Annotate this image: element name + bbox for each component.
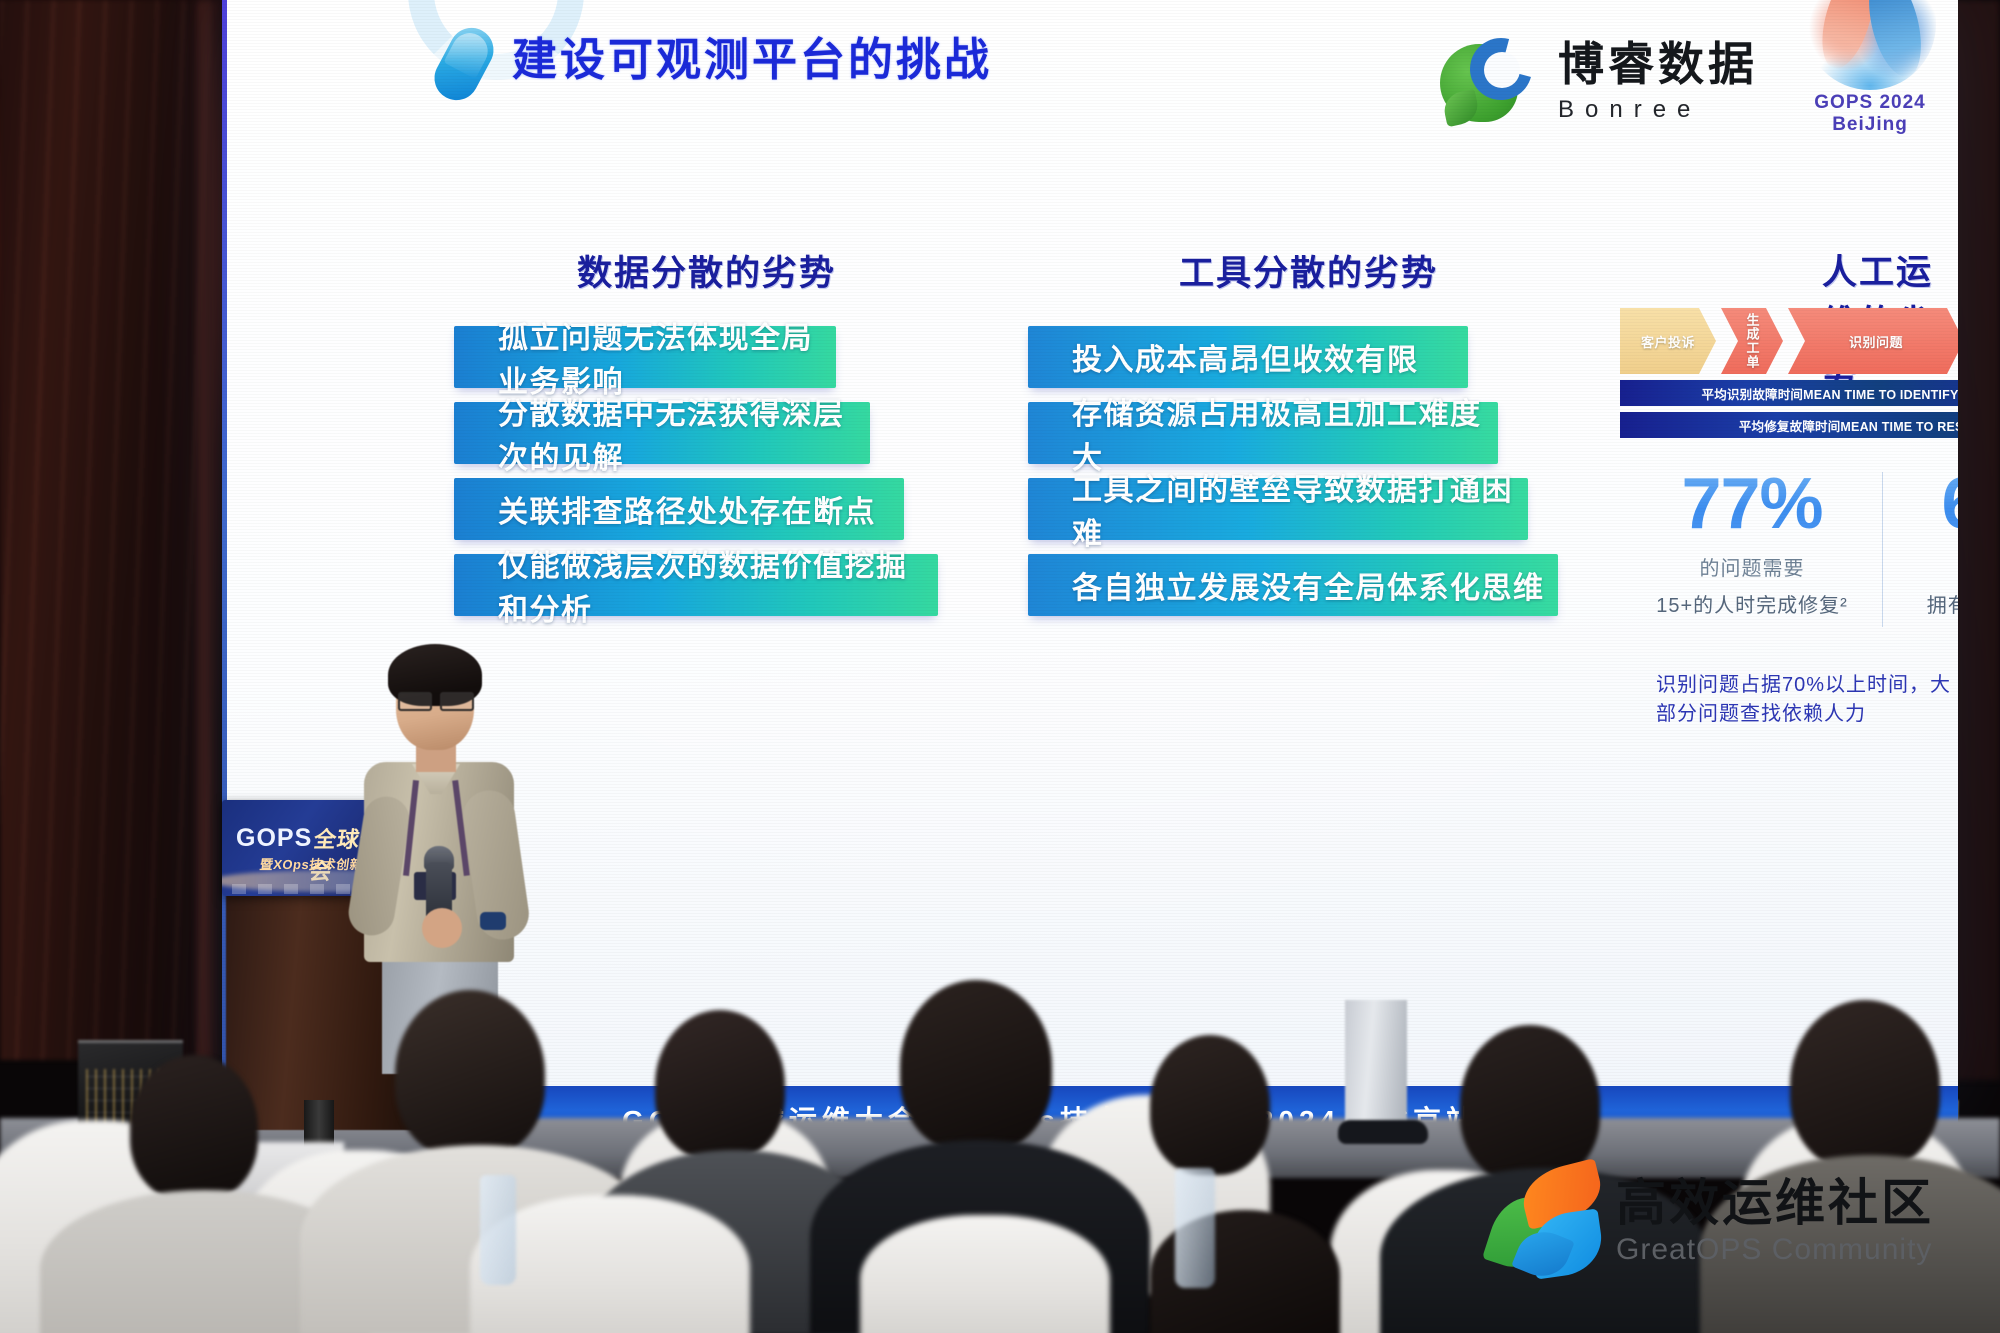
audience-member [1460, 1025, 1600, 1183]
speaker-hand [422, 908, 462, 948]
audience-member [1790, 1000, 1940, 1170]
incident-process-flow: 客户投诉 生成工单 识别问题 隔离故障 修复 [1620, 308, 1958, 374]
audience-member [655, 1010, 785, 1160]
list-item: 工具之间的壁垒导致数据打通困难 [1028, 478, 1528, 540]
gops-swirl-icon [1804, 0, 1936, 90]
process-step-customer-complaint: 客户投诉 [1620, 308, 1716, 374]
gops-badge-city: BeiJing [1796, 114, 1944, 136]
gops-2024-badge: GOPS 2024 BeiJing [1796, 0, 1944, 138]
audience-member [900, 980, 1052, 1152]
list-item: 仅能做浅层次的数据价值挖掘和分析 [454, 554, 938, 616]
mttr-bar: 平均修复故障时间MEAN TIME TO RESOLUTION [1620, 412, 1958, 438]
stat-value: 65% [1882, 466, 1958, 544]
water-bottle [480, 1175, 516, 1285]
list-item: 各自独立发展没有全局体系化思维 [1028, 554, 1558, 616]
wall-left [0, 0, 210, 1060]
stat-caption-line1: 的企业 [1882, 552, 1958, 581]
bonree-logo: 博睿数据 Bonree [1440, 36, 1758, 128]
podium-sign-gops: GOPS [236, 824, 312, 853]
list-item: 分散数据中无法获得深层次的见解 [454, 402, 870, 464]
list-item: 存储资源占用极高且加工难度大 [1028, 402, 1498, 464]
slide-footnote: 识别问题占据70%以上时间，大部分问题查找依赖人力 [1656, 668, 1958, 726]
list-item: 投入成本高昂但收效有限 [1028, 326, 1468, 388]
stat-monitoring-tools: 65% 的企业 拥有10+监控工具¹ [1882, 466, 1958, 631]
greatops-watermark: 高效运维社区 GreatOPS Community [1490, 1165, 1934, 1277]
stat-value: 77% [1622, 466, 1882, 544]
chair [860, 1215, 1110, 1333]
bystander-shoe [1338, 1120, 1428, 1144]
stat-caption-line2: 拥有10+监控工具¹ [1882, 589, 1958, 618]
stat-repair-hours: 77% 的问题需要 15+的人时完成修复² [1622, 466, 1882, 631]
list-item: 关联排查路径处处存在断点 [454, 478, 904, 540]
brand-name-cn: 博睿数据 [1558, 40, 1758, 90]
process-step-identify-problem: 识别问题 [1788, 308, 1958, 374]
statistics-group: 77% 的问题需要 15+的人时完成修复² 65% 的企业 拥有10+监控工具¹ [1622, 466, 1958, 631]
audience-member [130, 1055, 258, 1201]
water-bottle [1175, 1168, 1215, 1288]
speaker-watch [480, 912, 506, 930]
audience-member [1150, 1035, 1270, 1175]
column-heading-tools: 工具分散的劣势 [1179, 245, 1438, 296]
mtti-bar: 平均识别故障时间MEAN TIME TO IDENTIFY [1620, 380, 1958, 406]
gops-badge-year: GOPS 2024 [1796, 92, 1944, 114]
phoenix-icon [1490, 1165, 1602, 1277]
watermark-title-cn: 高效运维社区 [1616, 1176, 1934, 1231]
glasses-icon [396, 692, 476, 708]
stat-caption-line1: 的问题需要 [1622, 552, 1882, 581]
process-step-create-ticket: 生成工单 [1721, 308, 1783, 374]
conference-photo: 建设可观测平台的挑战 博睿数据 Bonree GOPS 2024 BeiJing… [0, 0, 2000, 1333]
bonree-mark-icon [1440, 36, 1536, 128]
watermark-title-en: GreatOPS Community [1616, 1233, 1934, 1267]
column-heading-data: 数据分散的劣势 [577, 245, 836, 296]
list-item: 孤立问题无法体现全局业务影响 [454, 326, 836, 388]
stat-caption-line2: 15+的人时完成修复² [1622, 589, 1882, 618]
bystander-legs [1345, 1000, 1407, 1132]
audience-member [395, 990, 545, 1158]
slide-title: 建设可观测平台的挑战 [512, 23, 992, 88]
brand-name-en: Bonree [1558, 96, 1758, 124]
